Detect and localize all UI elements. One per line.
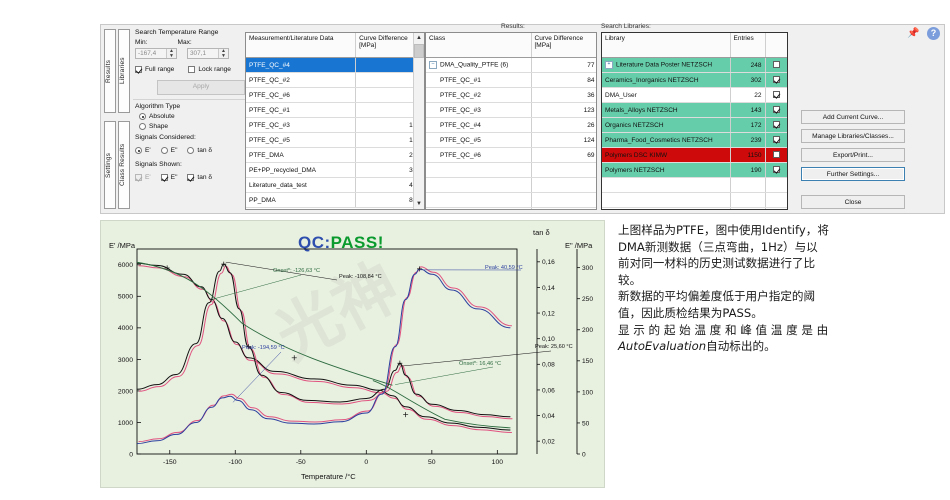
search-temperature-range-title: Search Temperature Range bbox=[135, 29, 251, 36]
curve-tan-delta-new bbox=[137, 269, 510, 444]
table-row[interactable]: PP_DMA812 bbox=[246, 193, 424, 208]
table-row[interactable]: PTFE_QC_#3123 bbox=[426, 103, 597, 118]
max-temperature-value: 307,1 bbox=[188, 50, 218, 57]
cell-empty bbox=[426, 178, 531, 193]
y-tick-label-e-loss: 100 bbox=[582, 389, 593, 396]
cell-class: PTFE_QC_#2 bbox=[426, 88, 531, 103]
cell-curve-difference: 77 bbox=[531, 58, 597, 73]
annotation-peak-1: Peak: -108,84 °C bbox=[339, 274, 382, 280]
x-tick-label: -50 bbox=[296, 459, 306, 466]
signal-considered-e-prime[interactable]: E' bbox=[135, 147, 151, 154]
cell-library-name: +Literature Data Poster NETZSCH bbox=[602, 58, 730, 73]
collapse-icon[interactable]: – bbox=[429, 61, 437, 69]
signals-shown-title: Signals Shown: bbox=[135, 161, 251, 168]
list-item[interactable]: DMA_User22 bbox=[602, 88, 787, 103]
cell-empty bbox=[602, 208, 730, 211]
cell-empty bbox=[426, 208, 531, 211]
library-enabled-checkbox[interactable] bbox=[773, 166, 780, 173]
help-icon[interactable]: ? bbox=[927, 27, 940, 40]
table-row[interactable]: Literature_data_test461 bbox=[246, 178, 424, 193]
table-row[interactable]: PTFE_QC_#426 bbox=[426, 118, 597, 133]
y-tick-label-left: 2000 bbox=[118, 388, 133, 395]
leader-onset-1 bbox=[212, 275, 301, 299]
signal-considered-e-double-prime[interactable]: E" bbox=[161, 147, 178, 154]
cell-curve-difference: 84 bbox=[531, 73, 597, 88]
note-line-6: 值，因此质检结果为PASS。 bbox=[618, 305, 940, 322]
cell-checkbox[interactable] bbox=[765, 118, 787, 133]
annotation-peak-4: Peak: 25,60 °C bbox=[535, 344, 573, 350]
apply-button[interactable]: Apply bbox=[157, 80, 245, 95]
label: E' bbox=[145, 174, 151, 181]
cell-entries: 1150 bbox=[730, 148, 765, 163]
column-header-library[interactable]: Library bbox=[602, 33, 730, 58]
cell-checkbox[interactable] bbox=[765, 163, 787, 178]
cell-checkbox[interactable] bbox=[765, 103, 787, 118]
cell-name: PP_DMA bbox=[246, 193, 356, 208]
sidebar-item-class-results[interactable]: Class Results bbox=[118, 121, 130, 209]
library-label: Pharma_Food_Cosmetics NETZSCH bbox=[605, 137, 713, 144]
x-tick-label: -150 bbox=[163, 459, 177, 466]
list-item[interactable]: Polymers DSC KIMW1150 bbox=[602, 148, 787, 163]
library-enabled-checkbox[interactable] bbox=[773, 151, 780, 158]
list-item[interactable]: Metals_Alloys NETZSCH143 bbox=[602, 103, 787, 118]
y-tick-label-tan-delta: 0,08 bbox=[542, 362, 555, 369]
y-tick-label-left: 1000 bbox=[118, 420, 133, 427]
cell-empty bbox=[602, 193, 730, 208]
curve-onset-tangent-2 bbox=[373, 381, 511, 428]
library-enabled-checkbox[interactable] bbox=[773, 76, 780, 83]
library-label: Polymers NETZSCH bbox=[605, 167, 665, 174]
algorithm-type-title: Algorithm Type bbox=[135, 103, 251, 110]
scroll-thumb[interactable] bbox=[414, 44, 424, 58]
column-header-measurement[interactable]: Measurement/Literature Data bbox=[246, 33, 356, 58]
y-tick-label-e-loss: 50 bbox=[582, 420, 590, 427]
plot-svg: 0100020003000400050006000 -150-100-50050… bbox=[101, 221, 606, 489]
full-range-label: Full range bbox=[145, 66, 174, 73]
class-results-table[interactable]: Class Curve Difference [MPa] –DMA_Qualit… bbox=[425, 32, 597, 210]
cell-library-name: Pharma_Food_Cosmetics NETZSCH bbox=[602, 133, 730, 148]
cell-class-label: PTFE_QC_#1 bbox=[440, 77, 481, 84]
note-line-8: AutoEvaluation自动标出的。 bbox=[618, 338, 940, 355]
expand-icon[interactable]: + bbox=[605, 61, 613, 69]
cell-checkbox[interactable] bbox=[765, 73, 787, 88]
cell-entries: 172 bbox=[730, 118, 765, 133]
cell-curve-difference: 124 bbox=[531, 133, 597, 148]
signal-shown-e-prime: E' bbox=[135, 174, 151, 181]
table-row[interactable]: PTFE_QC_#669 bbox=[426, 148, 597, 163]
y-tick-label-tan-delta: 0,16 bbox=[542, 259, 555, 266]
y-tick-label-tan-delta: 0,06 bbox=[542, 387, 555, 394]
list-item-empty bbox=[602, 178, 787, 193]
list-item-empty bbox=[602, 193, 787, 208]
table-row-empty bbox=[426, 163, 597, 178]
cell-empty bbox=[730, 193, 765, 208]
list-item[interactable]: Organics NETZSCH172 bbox=[602, 118, 787, 133]
min-spinner-arrows[interactable]: ▲▼ bbox=[166, 49, 176, 58]
cell-name: PTFE_QC_#6 bbox=[246, 88, 356, 103]
radio-absolute[interactable]: Absolute bbox=[139, 113, 251, 120]
scroll-up-icon[interactable]: ▲ bbox=[414, 33, 424, 43]
library-label: Polymers DSC KIMW bbox=[605, 152, 667, 159]
table-row[interactable]: PTFE_QC_#5124 bbox=[246, 133, 424, 148]
cell-class: PTFE_QC_#3 bbox=[426, 103, 531, 118]
cell-name: Literature_data_test bbox=[246, 178, 356, 193]
x-tick-label: 100 bbox=[492, 459, 504, 466]
y-tick-label-e-loss: 0 bbox=[582, 451, 586, 458]
curve-onset-tangent-1 bbox=[137, 262, 393, 385]
label: tan δ bbox=[197, 174, 212, 181]
label: E' bbox=[145, 147, 151, 154]
identify-dialog: 📌 ? Results Libraries Settings Class Res… bbox=[100, 24, 945, 214]
cell-class: PTFE_QC_#1 bbox=[426, 73, 531, 88]
lock-range-checkbox[interactable]: Lock range bbox=[188, 66, 231, 73]
checkbox-box bbox=[188, 66, 195, 73]
min-temperature-input[interactable]: -167,4 ▲▼ bbox=[135, 48, 177, 59]
y-axis-left-ticks: 0100020003000400050006000 bbox=[118, 262, 141, 458]
library-enabled-checkbox[interactable] bbox=[773, 136, 780, 143]
measurement-results-table[interactable]: Measurement/Literature Data Curve Differ… bbox=[245, 32, 425, 210]
cell-empty bbox=[531, 178, 597, 193]
y-tick-label-left: 3000 bbox=[118, 357, 133, 364]
max-label: Max: bbox=[177, 39, 191, 46]
search-libraries-table[interactable]: Library Entries +Literature Data Poster … bbox=[601, 32, 788, 210]
column-header-class[interactable]: Class bbox=[426, 33, 531, 58]
radio-dot bbox=[135, 147, 142, 154]
cell-library-name: Organics NETZSCH bbox=[602, 118, 730, 133]
data-curves bbox=[137, 262, 512, 444]
annotation-leader-lines bbox=[212, 262, 551, 402]
table-row[interactable]: PTFE_QC_#184 bbox=[426, 73, 597, 88]
y-tick-label-tan-delta: 0,14 bbox=[542, 285, 555, 292]
min-temperature-value: -167,4 bbox=[136, 50, 166, 57]
y-tick-label-left: 4000 bbox=[118, 325, 133, 332]
x-tick-label: 0 bbox=[364, 459, 368, 466]
cell-entries: 248 bbox=[730, 58, 765, 73]
leader-peak-2 bbox=[233, 352, 281, 402]
column-header-entries[interactable]: Entries bbox=[730, 33, 765, 58]
y-tick-label-left: 6000 bbox=[118, 262, 133, 269]
table-row-empty bbox=[426, 178, 597, 193]
search-settings-panel: Search Temperature Range Min: Max: -167,… bbox=[133, 27, 251, 213]
label: Curve Difference [MPa] bbox=[359, 35, 408, 49]
cell-class: –DMA_Quality_PTFE (6) bbox=[426, 58, 531, 73]
measurement-rows: PTFE_QC_#426PTFE_QC_#236PTFE_QC_#669PTFE… bbox=[246, 58, 424, 208]
cell-entries: 22 bbox=[730, 88, 765, 103]
cell-class-label: PTFE_QC_#3 bbox=[440, 107, 481, 114]
cell-library-name: Polymers NETZSCH bbox=[602, 163, 730, 178]
cell-class: PTFE_QC_#5 bbox=[426, 133, 531, 148]
annotation-peak-2: Peak: -194,59 °C bbox=[242, 345, 285, 351]
y-tick-label-e-loss: 250 bbox=[582, 296, 593, 303]
note-line-8-rest: 自动标出的。 bbox=[706, 339, 776, 353]
list-item[interactable]: Ceramics_Inorganics NETZSCH302 bbox=[602, 73, 787, 88]
library-rows: +Literature Data Poster NETZSCH248Cerami… bbox=[602, 58, 787, 211]
cell-class-label: PTFE_QC_#5 bbox=[440, 137, 481, 144]
cell-empty bbox=[765, 178, 787, 193]
description-note: 上图样品为PTFE，图中使用Identify，将 DMA新测数据（三点弯曲，1H… bbox=[618, 222, 940, 355]
sidebar-item-results[interactable]: Results bbox=[104, 29, 116, 113]
label: E" bbox=[171, 147, 178, 154]
full-range-checkbox[interactable]: Full range bbox=[135, 66, 174, 73]
results-label: Results: bbox=[501, 23, 525, 30]
cell-class: PTFE_QC_#4 bbox=[426, 118, 531, 133]
annotation-onset-2: Onset*: 16,46 °C bbox=[459, 361, 501, 367]
pin-icon[interactable]: 📌 bbox=[907, 28, 919, 40]
x-tick-label: -100 bbox=[228, 459, 242, 466]
y-tick-label-tan-delta: 0,10 bbox=[542, 336, 555, 343]
sidebar-item-libraries[interactable]: Libraries bbox=[118, 29, 130, 113]
cell-library-name: Metals_Alloys NETZSCH bbox=[602, 103, 730, 118]
cell-curve-difference: 69 bbox=[531, 148, 597, 163]
radio-shape-label: Shape bbox=[149, 123, 168, 130]
cell-empty bbox=[730, 208, 765, 211]
divider bbox=[133, 99, 251, 100]
cell-checkbox[interactable] bbox=[765, 133, 787, 148]
cell-checkbox[interactable] bbox=[765, 58, 787, 73]
cell-class-label: PTFE_QC_#2 bbox=[440, 92, 481, 99]
radio-dot bbox=[187, 147, 194, 154]
library-enabled-checkbox[interactable] bbox=[773, 106, 780, 113]
table-row[interactable]: PTFE_QC_#5124 bbox=[426, 133, 597, 148]
close-button[interactable]: Close bbox=[801, 195, 905, 209]
y-tick-label-left: 0 bbox=[129, 451, 133, 458]
cell-empty bbox=[765, 193, 787, 208]
y-tick-label-e-loss: 300 bbox=[582, 265, 593, 272]
radio-shape[interactable]: Shape bbox=[139, 123, 251, 130]
label: Curve Difference [MPa] bbox=[535, 35, 584, 49]
cell-name: PTFE_QC_#2 bbox=[246, 73, 356, 88]
note-line-1: 上图样品为PTFE，图中使用Identify，将 bbox=[618, 222, 940, 239]
checkbox-box bbox=[135, 66, 142, 73]
annotation-onset-1: Onset*: -126,63 °C bbox=[273, 268, 320, 274]
data-point-marker bbox=[403, 412, 408, 417]
measurement-table-scrollbar[interactable]: ▲ ▼ bbox=[413, 33, 424, 209]
signal-shown-tan-delta[interactable]: tan δ bbox=[187, 174, 212, 181]
cell-name: PTFE_QC_#3 bbox=[246, 118, 356, 133]
dialog-titlebar-icons: 📌 ? bbox=[907, 27, 940, 40]
manage-libraries-classes-button[interactable]: Manage Libraries/Classes... bbox=[801, 129, 905, 143]
library-label: Organics NETZSCH bbox=[605, 122, 664, 129]
lock-range-label: Lock range bbox=[198, 66, 231, 73]
annotation-peak-3: Peak: 40,59 °C bbox=[485, 265, 523, 271]
cell-curve-difference: 26 bbox=[531, 118, 597, 133]
cell-empty bbox=[765, 208, 787, 211]
radio-absolute-label: Absolute bbox=[149, 113, 175, 120]
note-line-2: DMA新测数据（三点弯曲，1Hz）与以 bbox=[618, 239, 940, 256]
signal-shown-e-double-prime[interactable]: E" bbox=[161, 174, 178, 181]
cell-name: PTFE_QC_#5 bbox=[246, 133, 356, 148]
search-libraries-label: Search Libraries: bbox=[601, 23, 651, 30]
label: E" bbox=[171, 174, 178, 181]
library-enabled-checkbox[interactable] bbox=[773, 61, 780, 68]
cell-empty bbox=[730, 178, 765, 193]
note-italic-term: AutoEvaluation bbox=[618, 339, 706, 353]
radio-dot bbox=[139, 123, 146, 130]
cell-class-label: PTFE_QC_#4 bbox=[440, 122, 481, 129]
library-label: DMA_User bbox=[605, 92, 637, 99]
cell-empty bbox=[531, 163, 597, 178]
library-label: Ceramics_Inorganics NETZSCH bbox=[605, 77, 699, 84]
class-rows: –DMA_Quality_PTFE (6)77PTFE_QC_#184PTFE_… bbox=[426, 58, 597, 211]
y-tick-label-tan-delta: 0,02 bbox=[542, 439, 555, 446]
library-enabled-checkbox[interactable] bbox=[773, 121, 780, 128]
cell-class-label: DMA_Quality_PTFE (6) bbox=[440, 62, 508, 69]
table-row[interactable]: PTFE_QC_#426 bbox=[246, 58, 424, 73]
list-item-empty bbox=[602, 208, 787, 211]
scroll-down-icon[interactable]: ▼ bbox=[414, 199, 424, 209]
y-tick-label-e-loss: 150 bbox=[582, 358, 593, 365]
cell-empty bbox=[602, 178, 730, 193]
max-spinner-arrows[interactable]: ▲▼ bbox=[218, 49, 228, 58]
column-header-enabled bbox=[765, 33, 787, 58]
table-row[interactable]: PTFE_DMA232 bbox=[246, 148, 424, 163]
cell-entries: 302 bbox=[730, 73, 765, 88]
leader-onset-2 bbox=[395, 367, 493, 385]
library-label: Literature Data Poster NETZSCH bbox=[616, 62, 712, 69]
max-temperature-input[interactable]: 307,1 ▲▼ bbox=[187, 48, 229, 59]
label: tan δ bbox=[197, 147, 212, 154]
cell-class-label: PTFE_QC_#6 bbox=[440, 152, 481, 159]
cell-name: PTFE_QC_#4 bbox=[246, 58, 356, 73]
y-tick-label-left: 5000 bbox=[118, 294, 133, 301]
cell-name: PTFE_QC_#1 bbox=[246, 103, 356, 118]
table-row[interactable]: PTFE_QC_#236 bbox=[246, 73, 424, 88]
dma-chart: 光神 QC:PASS! E' /MPa tan δ E" /MPa Temper… bbox=[100, 220, 605, 488]
list-item[interactable]: +Literature Data Poster NETZSCH248 bbox=[602, 58, 787, 73]
radio-dot bbox=[161, 147, 168, 154]
table-row[interactable]: PTFE_QC_#236 bbox=[426, 88, 597, 103]
min-label: Min: bbox=[135, 39, 147, 46]
checkbox-box bbox=[187, 174, 194, 181]
checkbox-box bbox=[161, 174, 168, 181]
export-print-button[interactable]: Export/Print... bbox=[801, 148, 905, 162]
sidebar-item-settings[interactable]: Settings bbox=[104, 121, 116, 209]
list-item[interactable]: Pharma_Food_Cosmetics NETZSCH239 bbox=[602, 133, 787, 148]
table-row[interactable]: PTFE_QC_#184 bbox=[246, 103, 424, 118]
add-current-curve-button[interactable]: Add Current Curve... bbox=[801, 110, 905, 124]
further-settings-button[interactable]: Further Settings... bbox=[801, 167, 905, 181]
cell-name: PTFE_DMA bbox=[246, 148, 356, 163]
y-tick-label-tan-delta: 0,04 bbox=[542, 413, 555, 420]
table-row-empty bbox=[426, 208, 597, 211]
checkbox-box bbox=[135, 174, 142, 181]
cell-checkbox[interactable] bbox=[765, 88, 787, 103]
note-line-5: 新数据的平均偏差度低于用户指定的阈 bbox=[618, 288, 940, 305]
vertical-tab-strip: Results Libraries Settings Class Results bbox=[103, 29, 131, 211]
list-item[interactable]: Polymers NETZSCH190 bbox=[602, 163, 787, 178]
library-label: Metals_Alloys NETZSCH bbox=[605, 107, 678, 114]
cell-library-name: Ceramics_Inorganics NETZSCH bbox=[602, 73, 730, 88]
note-line-4: 较。 bbox=[618, 272, 940, 289]
signals-considered-title: Signals Considered: bbox=[135, 134, 251, 141]
cell-class: PTFE_QC_#6 bbox=[426, 148, 531, 163]
column-header-class-curve-difference[interactable]: Curve Difference [MPa] bbox=[531, 33, 597, 58]
note-line-7: 显 示 的 起 始 温 度 和 峰 值 温 度 是 由 bbox=[618, 322, 940, 339]
cell-empty bbox=[426, 193, 531, 208]
cell-entries: 190 bbox=[730, 163, 765, 178]
cell-curve-difference: 123 bbox=[531, 103, 597, 118]
table-row[interactable]: PTFE_QC_#669 bbox=[246, 88, 424, 103]
radio-dot bbox=[139, 113, 146, 120]
signal-considered-tan-delta[interactable]: tan δ bbox=[187, 147, 212, 154]
cell-curve-difference: 36 bbox=[531, 88, 597, 103]
x-axis-ticks: -150-100-50050100 bbox=[163, 450, 503, 466]
data-point-marker bbox=[292, 355, 297, 360]
curve-e-loss-new bbox=[137, 264, 510, 417]
cell-entries: 239 bbox=[730, 133, 765, 148]
cell-empty bbox=[531, 208, 597, 211]
y-axis-right2: 050100150200250300 bbox=[577, 249, 593, 458]
table-row[interactable]: –DMA_Quality_PTFE (6)77 bbox=[426, 58, 597, 73]
cell-empty bbox=[531, 193, 597, 208]
table-row-empty bbox=[426, 193, 597, 208]
cell-library-name: DMA_User bbox=[602, 88, 730, 103]
cell-entries: 143 bbox=[730, 103, 765, 118]
cell-library-name: Polymers DSC KIMW bbox=[602, 148, 730, 163]
table-row[interactable]: PTFE_QC_#3123 bbox=[246, 118, 424, 133]
library-enabled-checkbox[interactable] bbox=[773, 91, 780, 98]
table-row[interactable]: PE+PP_recycled_DMA335 bbox=[246, 163, 424, 178]
cell-name: PE+PP_recycled_DMA bbox=[246, 163, 356, 178]
cell-empty bbox=[426, 163, 531, 178]
y-tick-label-tan-delta: 0,12 bbox=[542, 310, 555, 317]
y-tick-label-e-loss: 200 bbox=[582, 327, 593, 334]
curve-tan-delta-reference bbox=[139, 267, 512, 442]
x-tick-label: 50 bbox=[428, 459, 436, 466]
cell-checkbox[interactable] bbox=[765, 148, 787, 163]
note-line-3: 前对同一材料的历史测试数据进行了比 bbox=[618, 255, 940, 272]
